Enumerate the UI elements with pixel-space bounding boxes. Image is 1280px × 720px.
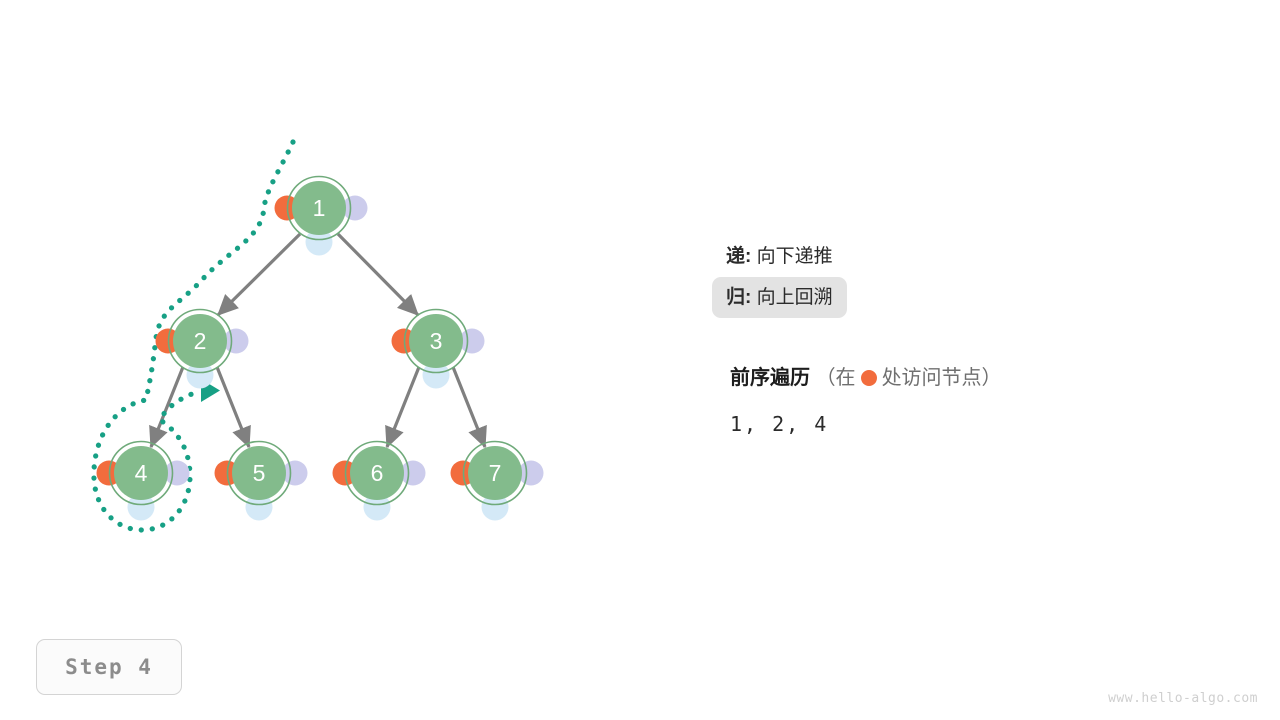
watermark: www.hello-algo.com — [1108, 691, 1258, 706]
traversal-note-close: 处访问节点） — [882, 367, 1002, 389]
step-badge: Step 4 — [36, 639, 182, 695]
node-6-right-dot — [401, 461, 426, 486]
node-5-label: 5 — [253, 460, 266, 486]
traversal-note-open: （在 — [816, 367, 856, 389]
tree-node-5[interactable]: 5 — [215, 442, 308, 521]
node-1-right-dot — [343, 196, 368, 221]
node-3-right-dot — [460, 329, 485, 354]
node-1-label: 1 — [313, 195, 326, 221]
binary-tree-diagram: 1 2 3 4 — [0, 0, 700, 620]
traversal-name: 前序遍历 — [730, 367, 810, 389]
node-3-label: 3 — [430, 328, 443, 354]
edge-1-3 — [338, 234, 418, 315]
node-2-label: 2 — [194, 328, 207, 354]
orange-circle-icon — [861, 370, 877, 386]
tree-node-6[interactable]: 6 — [333, 442, 426, 521]
node-4-label: 4 — [135, 460, 148, 486]
node-6-label: 6 — [371, 460, 384, 486]
step-badge-label: Step 4 — [65, 655, 153, 679]
tree-node-2[interactable]: 2 — [156, 310, 249, 389]
legend-item-recurse: 递: 向下递推 — [726, 236, 1246, 277]
legend-backtrack-term: 归: — [726, 287, 751, 308]
edge-3-6 — [387, 367, 419, 447]
tree-node-3[interactable]: 3 — [392, 310, 485, 389]
node-2-right-dot — [224, 329, 249, 354]
node-4-right-dot — [165, 461, 190, 486]
node-7-label: 7 — [489, 460, 502, 486]
tree-nodes: 1 2 3 4 — [97, 177, 544, 521]
traversal-block: 前序遍历 （在处访问节点） 1, 2, 4 — [730, 358, 1250, 436]
tree-node-4[interactable]: 4 — [97, 442, 190, 521]
edge-3-7 — [453, 367, 485, 447]
tree-node-7[interactable]: 7 — [451, 442, 544, 521]
node-5-right-dot — [283, 461, 308, 486]
legend-panel: 递: 向下递推 归: 向上回溯 — [726, 236, 1246, 318]
legend-backtrack-text: 向上回溯 — [757, 287, 833, 308]
traversal-values: 1, 2, 4 — [730, 412, 1250, 436]
legend-recurse-text: 向下递推 — [757, 246, 833, 267]
legend-recurse-term: 递: — [726, 246, 751, 267]
edge-2-5 — [217, 367, 249, 447]
traversal-title: 前序遍历 （在处访问节点） — [730, 358, 1250, 398]
edge-1-2 — [218, 234, 300, 315]
node-7-right-dot — [519, 461, 544, 486]
legend-item-backtrack: 归: 向上回溯 — [726, 277, 1246, 318]
